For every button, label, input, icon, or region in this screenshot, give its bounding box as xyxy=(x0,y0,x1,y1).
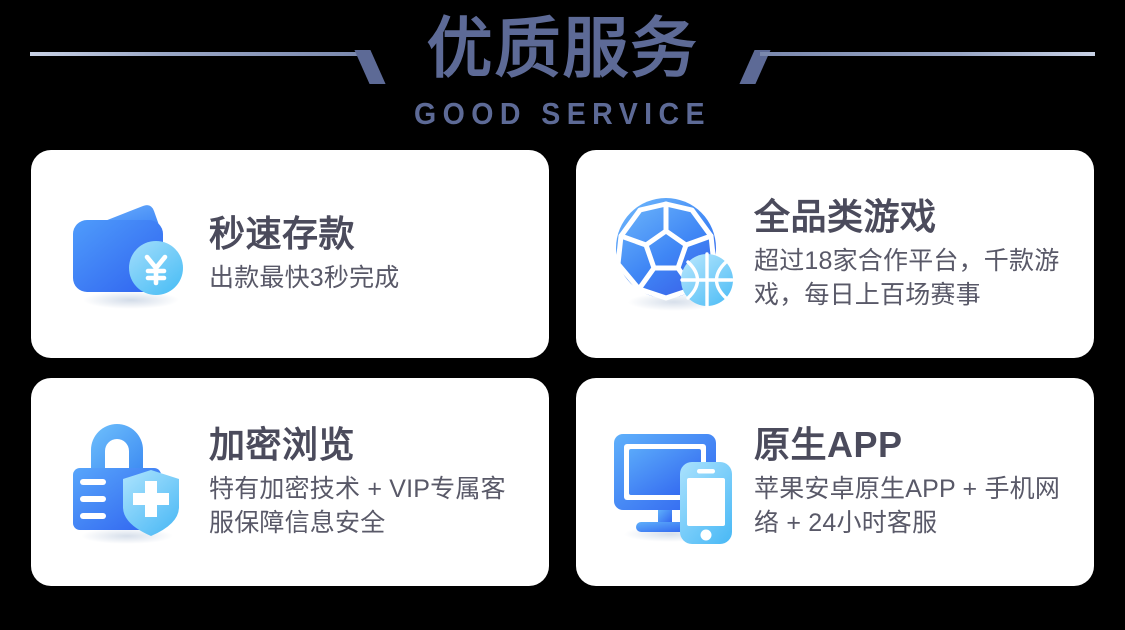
service-card-native-app[interactable]: 原生APP 苹果安卓原生APP + 手机网络 + 24小时客服 xyxy=(576,378,1094,586)
card-description: 出款最快3秒完成 xyxy=(209,262,527,295)
card-text-block: 原生APP 苹果安卓原生APP + 手机网络 + 24小时客服 xyxy=(754,424,1072,540)
service-card-encryption[interactable]: 加密浏览 特有加密技术 + VIP专属客服保障信息安全 xyxy=(31,378,549,586)
card-text-block: 加密浏览 特有加密技术 + VIP专属客服保障信息安全 xyxy=(209,424,527,540)
service-card-games[interactable]: 全品类游戏 超过18家合作平台，千款游戏，每日上百场赛事 xyxy=(576,150,1094,358)
card-title: 全品类游戏 xyxy=(754,196,1072,238)
header-rule-right xyxy=(760,52,1095,56)
page-subtitle: GOOD SERVICE xyxy=(45,96,1080,132)
card-text-block: 全品类游戏 超过18家合作平台，千款游戏，每日上百场赛事 xyxy=(754,196,1072,312)
lock-shield-icon xyxy=(59,412,199,552)
card-description: 苹果安卓原生APP + 手机网络 + 24小时客服 xyxy=(754,473,1072,540)
card-description: 超过18家合作平台，千款游戏，每日上百场赛事 xyxy=(754,245,1072,312)
card-title: 秒速存款 xyxy=(209,213,527,255)
card-title: 原生APP xyxy=(754,424,1072,466)
wallet-yen-icon xyxy=(59,184,199,324)
soccer-basketball-icon xyxy=(604,184,744,324)
page-header: 优质服务 GOOD SERVICE xyxy=(0,0,1125,150)
service-card-deposit[interactable]: 秒速存款 出款最快3秒完成 xyxy=(31,150,549,358)
card-title: 加密浏览 xyxy=(209,424,527,466)
page-title: 优质服务 xyxy=(0,10,1125,88)
card-description: 特有加密技术 + VIP专属客服保障信息安全 xyxy=(209,473,527,540)
monitor-phone-icon xyxy=(604,412,744,552)
card-text-block: 秒速存款 出款最快3秒完成 xyxy=(209,213,527,296)
service-card-grid: 秒速存款 出款最快3秒完成 xyxy=(31,150,1094,586)
